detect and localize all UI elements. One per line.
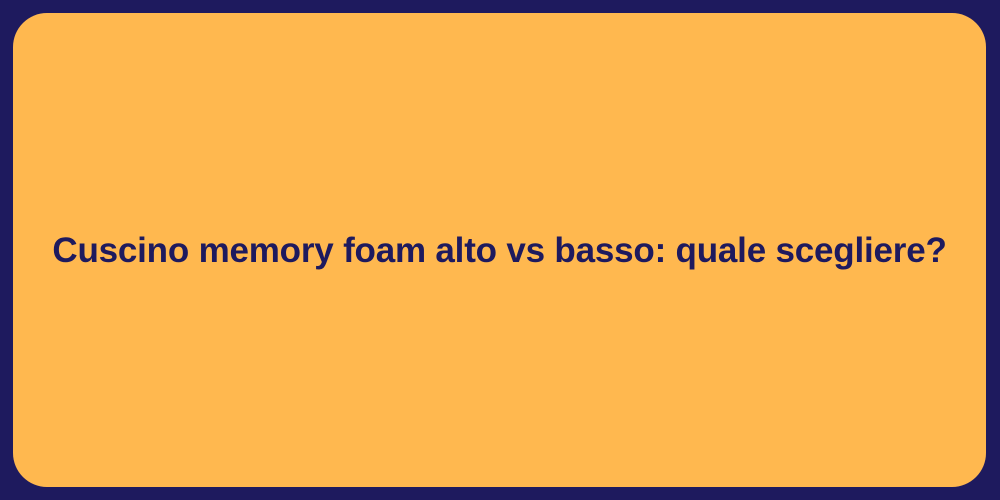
banner-root: Cuscino memory foam alto vs basso: quale… bbox=[0, 0, 1000, 500]
content-card: Cuscino memory foam alto vs basso: quale… bbox=[13, 13, 986, 487]
title-container: Cuscino memory foam alto vs basso: quale… bbox=[13, 230, 986, 271]
page-title: Cuscino memory foam alto vs basso: quale… bbox=[52, 230, 946, 271]
